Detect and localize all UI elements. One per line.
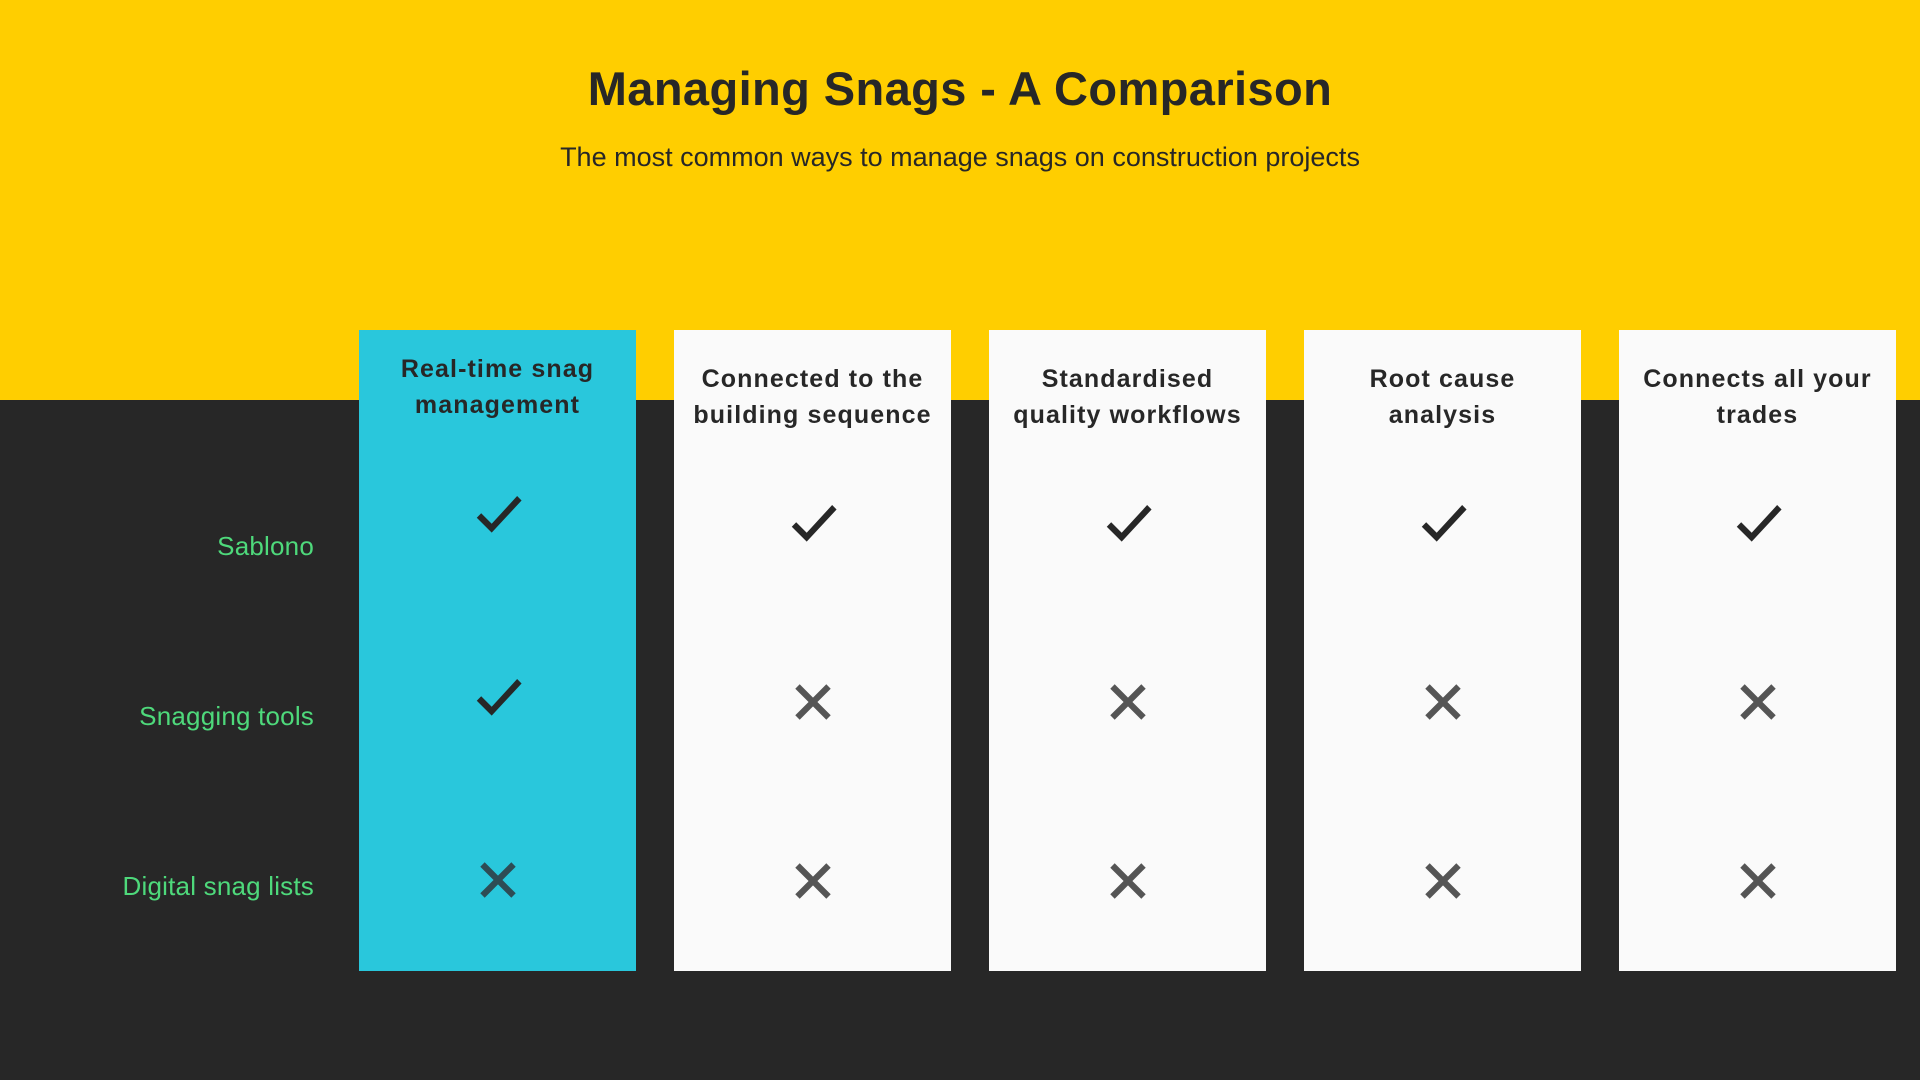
infographic-stage: Managing Snags - A Comparison The most c…: [0, 0, 1920, 1080]
cross-icon: [1415, 674, 1471, 730]
comparison-cell: [359, 423, 636, 606]
cross-icon: [1415, 853, 1471, 909]
headline-block: Managing Snags - A Comparison The most c…: [0, 62, 1920, 176]
row-label: Digital snag lists: [0, 801, 340, 971]
cross-icon: [785, 674, 841, 730]
comparison-grid: Real-time snag managementConnected to th…: [359, 330, 1896, 971]
row-label-list: SablonoSnagging toolsDigital snag lists: [0, 462, 340, 971]
comparison-cell: [674, 433, 951, 612]
page-title: Managing Snags - A Comparison: [0, 62, 1920, 116]
column-cells: [1304, 433, 1581, 971]
column-header: Connected to the building sequence: [674, 330, 951, 433]
comparison-column: Real-time snag management: [359, 330, 636, 971]
rail-header-spacer: [0, 330, 340, 462]
comparison-cell: [359, 606, 636, 789]
comparison-column: Standardised quality workflows: [989, 330, 1266, 971]
column-cells: [989, 433, 1266, 971]
comparison-cell: [1304, 612, 1581, 791]
comparison-cell: [989, 433, 1266, 612]
column-header: Root cause analysis: [1304, 330, 1581, 433]
cross-icon: [1730, 674, 1786, 730]
column-header: Connects all your trades: [1619, 330, 1896, 433]
comparison-cell: [1304, 792, 1581, 971]
comparison-column: Root cause analysis: [1304, 330, 1581, 971]
cross-icon: [785, 853, 841, 909]
column-cells: [359, 423, 636, 971]
row-label: Snagging tools: [0, 632, 340, 802]
check-icon: [470, 486, 526, 542]
column-cells: [1619, 433, 1896, 971]
comparison-cell: [1619, 433, 1896, 612]
column-cells: [674, 433, 951, 971]
column-header: Real-time snag management: [359, 330, 636, 423]
comparison-cell: [674, 792, 951, 971]
comparison-cell: [674, 612, 951, 791]
check-icon: [785, 495, 841, 551]
comparison-column: Connects all your trades: [1619, 330, 1896, 971]
cross-icon: [470, 852, 526, 908]
check-icon: [1730, 495, 1786, 551]
comparison-cell: [989, 792, 1266, 971]
comparison-cell: [1619, 792, 1896, 971]
check-icon: [1415, 495, 1471, 551]
row-label: Sablono: [0, 462, 340, 632]
comparison-cell: [1619, 612, 1896, 791]
cross-icon: [1730, 853, 1786, 909]
check-icon: [1100, 495, 1156, 551]
comparison-column: Connected to the building sequence: [674, 330, 951, 971]
row-label-rail: SablonoSnagging toolsDigital snag lists: [0, 330, 340, 971]
comparison-cell: [989, 612, 1266, 791]
comparison-cell: [359, 788, 636, 971]
page-subtitle: The most common ways to manage snags on …: [455, 138, 1465, 176]
check-icon: [470, 669, 526, 725]
comparison-cell: [1304, 433, 1581, 612]
column-header: Standardised quality workflows: [989, 330, 1266, 433]
cross-icon: [1100, 853, 1156, 909]
cross-icon: [1100, 674, 1156, 730]
